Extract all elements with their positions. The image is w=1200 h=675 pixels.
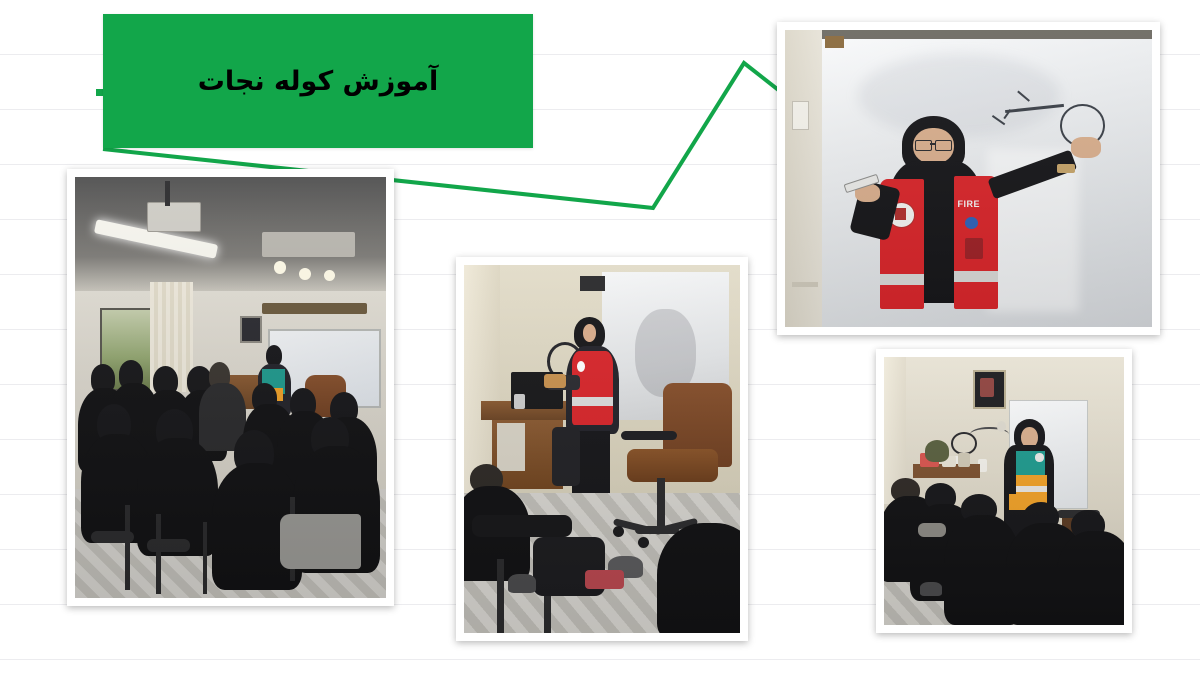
slide-canvas: آموزش کوله نجات xyxy=(0,0,1200,675)
photo-whiteboard[interactable]: FIRE xyxy=(777,22,1160,335)
page-title: آموزش کوله نجات xyxy=(198,66,439,97)
photo-group-talk[interactable] xyxy=(876,349,1132,633)
photo-whiteboard-image: FIRE xyxy=(785,30,1152,327)
title-banner: آموزش کوله نجات xyxy=(103,14,533,148)
photo-presenter-desk[interactable] xyxy=(456,257,748,641)
photo-classroom-wide-image xyxy=(75,177,386,598)
photo-presenter-desk-image xyxy=(464,265,740,633)
photo-group-talk-image xyxy=(884,357,1124,625)
photo-classroom-wide[interactable] xyxy=(67,169,394,606)
